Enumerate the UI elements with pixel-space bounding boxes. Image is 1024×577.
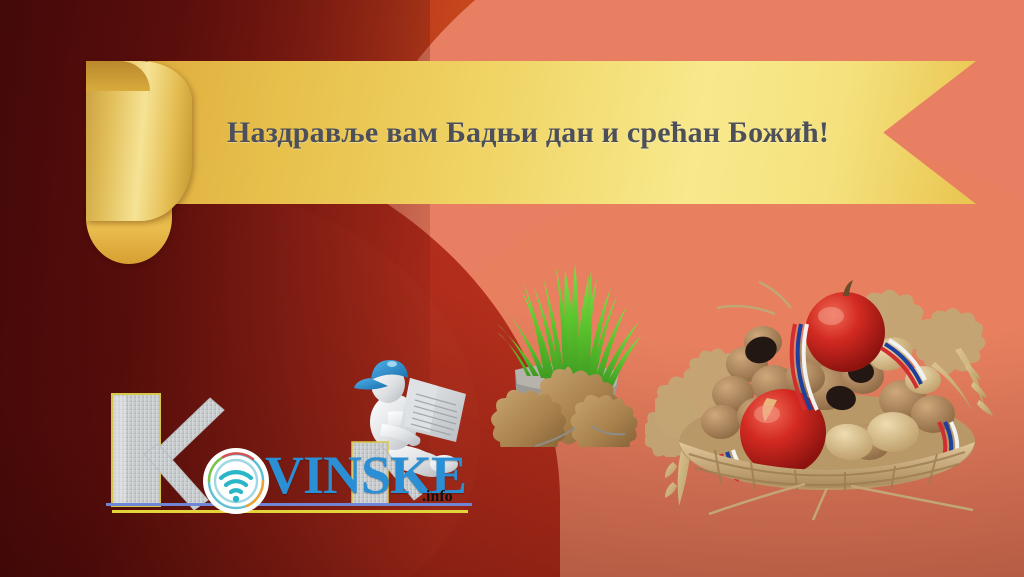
wifi-icon[interactable] — [200, 445, 272, 517]
greeting-card: VINSKE .info Наздр — [0, 0, 1024, 577]
scroll-ribbon-banner: Наздравље вам Бадњи дан и срећан Божић! — [62, 58, 977, 258]
wheatgrass-photo — [487, 232, 657, 447]
logo-underline-yellow — [112, 510, 468, 513]
greeting-headline: Наздравље вам Бадњи дан и срећан Божић! — [148, 61, 908, 204]
christmas-basket-photo — [655, 272, 1000, 522]
logo-underline-blue — [106, 503, 472, 506]
kovinske-info-logo[interactable]: VINSKE .info — [100, 386, 480, 532]
